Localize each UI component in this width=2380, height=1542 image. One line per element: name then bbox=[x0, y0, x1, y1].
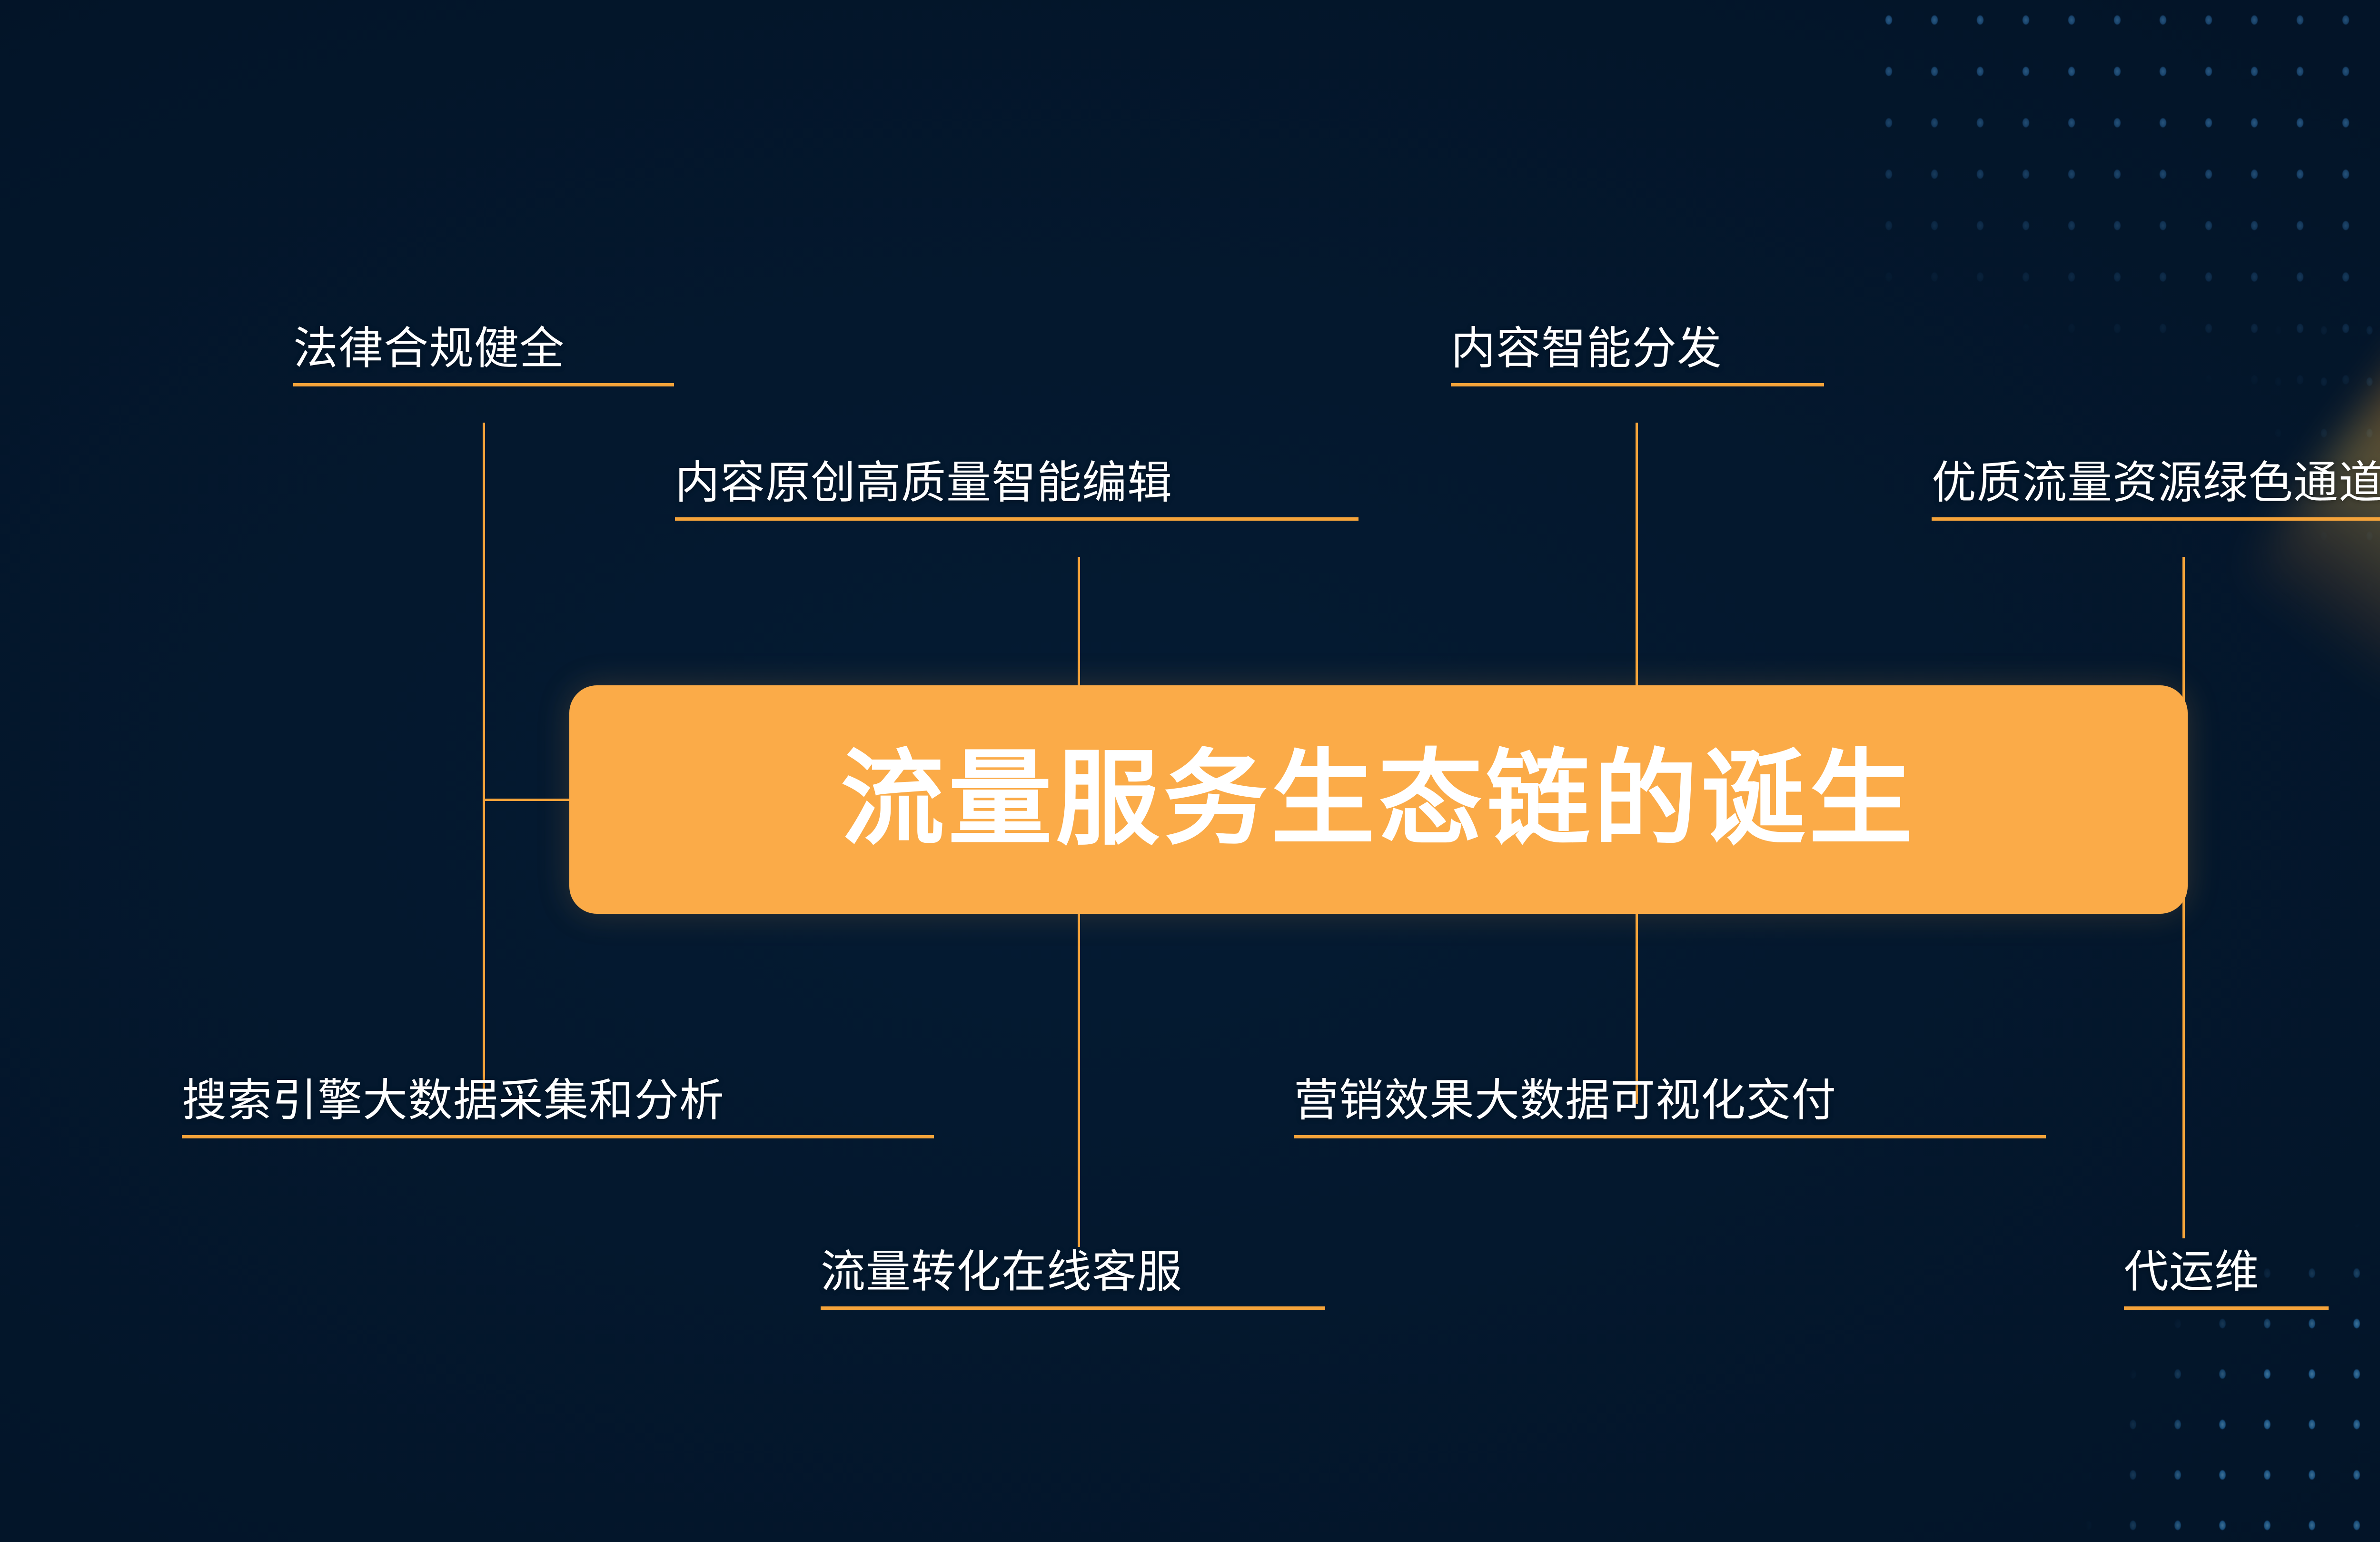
connector-online-cs-vertical bbox=[1078, 914, 1080, 1247]
node-green-channel-label: 优质流量资源绿色通道 bbox=[1932, 458, 2380, 508]
node-search-data-underline bbox=[182, 1135, 934, 1138]
connector-content-dist-vertical bbox=[1636, 423, 1638, 685]
page-title: 流量服务生态链的诞生 bbox=[841, 748, 1916, 851]
main-title-box: 流量服务生态链的诞生 bbox=[569, 685, 2188, 914]
connector-legal-vertical bbox=[483, 423, 485, 1104]
node-search-data[interactable]: 搜索引擎大数据采集和分析 bbox=[182, 1076, 934, 1138]
connector-legal-arm bbox=[483, 799, 578, 801]
node-online-cs-underline bbox=[821, 1306, 1325, 1310]
node-green-channel[interactable]: 优质流量资源绿色通道 bbox=[1932, 458, 2380, 521]
node-content-edit-label: 内容原创高质量智能编辑 bbox=[675, 458, 1359, 508]
node-online-cs[interactable]: 流量转化在线客服 bbox=[821, 1247, 1325, 1310]
node-marketing-viz-label: 营销效果大数据可视化交付 bbox=[1294, 1076, 2046, 1126]
light-streak-icon bbox=[2237, 11, 2380, 702]
node-content-edit-underline bbox=[675, 517, 1359, 521]
connector-content-edit-vertical bbox=[1078, 557, 1080, 685]
slide-canvas: 天助网 ® www.tz1288.com 流量服务生态链的诞生 法律合规健全 内… bbox=[0, 0, 2380, 1542]
node-legal[interactable]: 法律合规健全 bbox=[293, 324, 674, 386]
node-marketing-viz[interactable]: 营销效果大数据可视化交付 bbox=[1294, 1076, 2046, 1138]
node-ops[interactable]: 代运维 bbox=[2124, 1247, 2329, 1310]
node-content-dist[interactable]: 内容智能分发 bbox=[1451, 324, 1824, 386]
node-content-edit[interactable]: 内容原创高质量智能编辑 bbox=[675, 458, 1359, 521]
dot-pattern-bottom-right-icon bbox=[2066, 1147, 2380, 1542]
node-marketing-viz-underline bbox=[1294, 1135, 2046, 1138]
node-ops-label: 代运维 bbox=[2124, 1247, 2329, 1297]
node-legal-label: 法律合规健全 bbox=[293, 324, 674, 374]
node-green-channel-underline bbox=[1932, 517, 2380, 521]
node-legal-underline bbox=[293, 383, 674, 386]
node-ops-underline bbox=[2124, 1306, 2329, 1310]
node-search-data-label: 搜索引擎大数据采集和分析 bbox=[182, 1076, 934, 1126]
node-online-cs-label: 流量转化在线客服 bbox=[821, 1247, 1325, 1297]
node-content-dist-underline bbox=[1451, 383, 1824, 386]
node-content-dist-label: 内容智能分发 bbox=[1451, 324, 1824, 374]
dot-pattern-top-right-icon bbox=[1866, 0, 2380, 657]
